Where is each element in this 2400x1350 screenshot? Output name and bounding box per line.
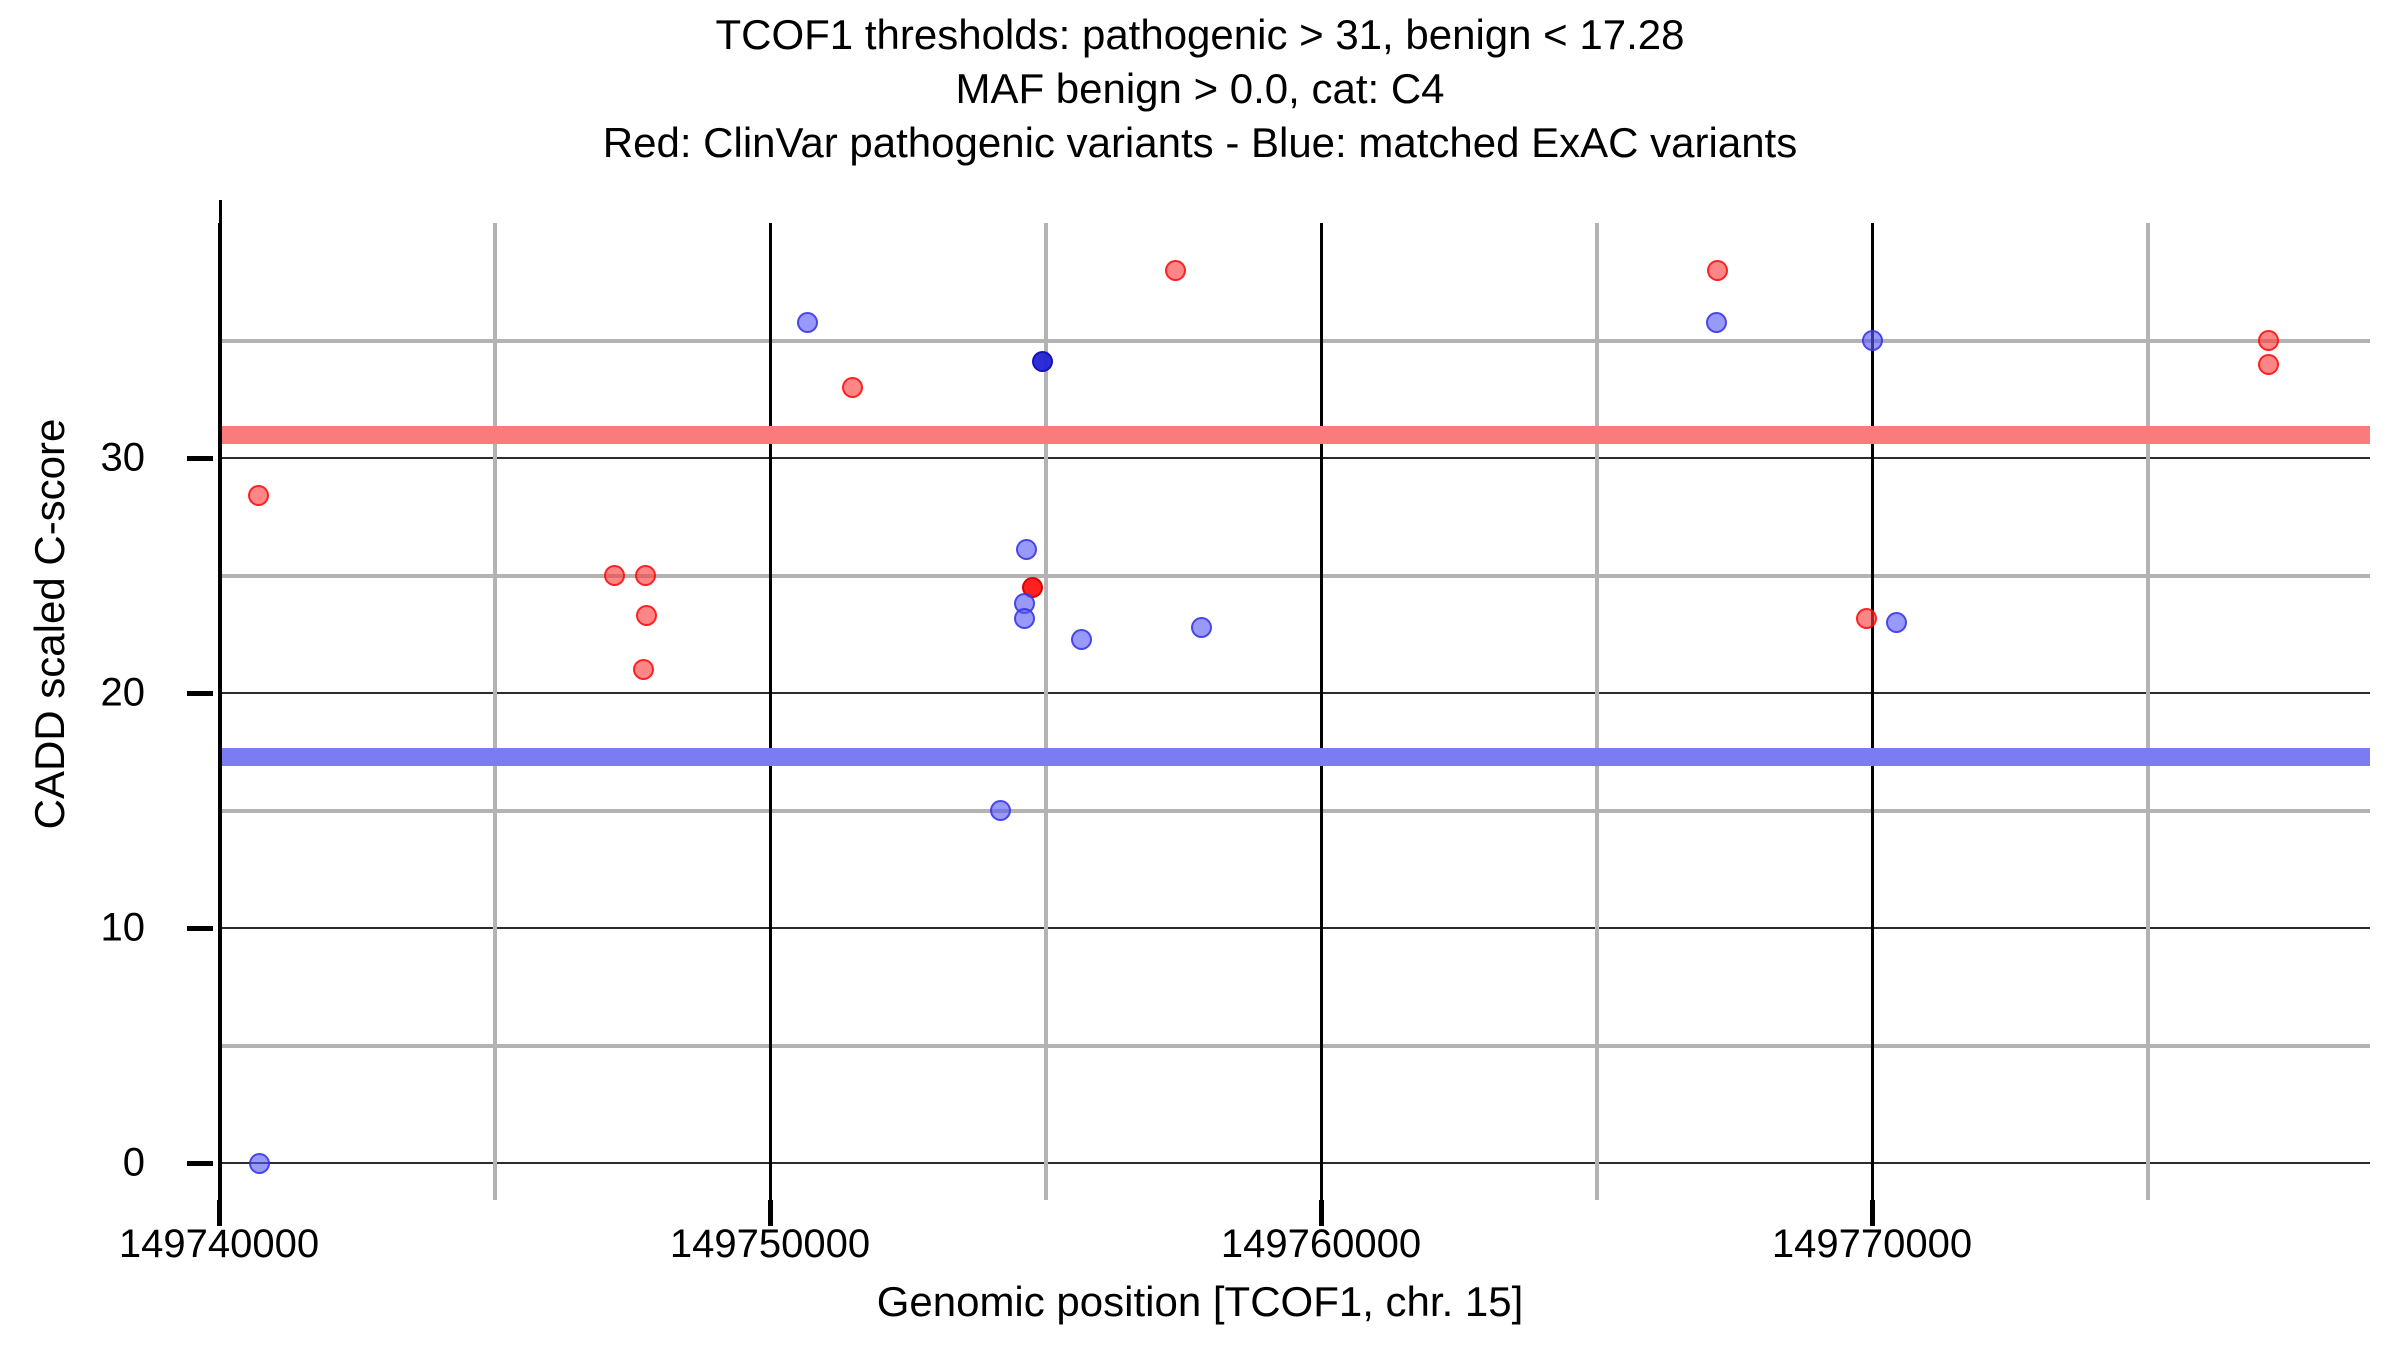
gridline-y-minor-15	[219, 809, 2370, 813]
gridline-x-major-149750000	[769, 223, 772, 1200]
y-tick-20	[187, 691, 213, 696]
y-tick-0	[187, 1161, 213, 1166]
x-tick-label-149770000: 149770000	[1772, 1222, 1972, 1267]
y-tick-label-20: 20	[0, 671, 145, 716]
title-line-1: TCOF1 thresholds: pathogenic > 31, benig…	[0, 8, 2400, 62]
data-point-exac-9	[1706, 312, 1727, 333]
data-point-exac-3	[1016, 539, 1037, 560]
threshold-band-pathogenic	[219, 426, 2370, 444]
gridline-x-minor-149745000	[493, 223, 497, 1200]
gridline-y-major-0	[219, 1162, 2370, 1164]
gridline-y-minor-25	[219, 574, 2370, 578]
gridline-x-minor-149765000	[1595, 223, 1599, 1200]
x-axis-title: Genomic position [TCOF1, chr. 15]	[0, 1278, 2400, 1326]
data-point-pathogenic-5	[842, 377, 863, 398]
data-point-exac-0	[249, 1153, 270, 1174]
x-tick-label-149740000: 149740000	[119, 1222, 319, 1267]
gridline-x-minor-149775000	[2146, 223, 2150, 1200]
title-line-2: MAF benign > 0.0, cat: C4	[0, 62, 2400, 116]
data-point-exac-7	[1032, 351, 1053, 372]
data-point-exac-11	[1886, 612, 1907, 633]
gridline-x-major-149770000	[1871, 223, 1874, 1200]
chart-root: TCOF1 thresholds: pathogenic > 31, benig…	[0, 0, 2400, 1350]
y-axis-line	[219, 200, 222, 1210]
y-tick-30	[187, 456, 213, 461]
data-point-pathogenic-9	[1856, 608, 1877, 629]
gridline-x-major-149760000	[1320, 223, 1323, 1200]
data-point-pathogenic-2	[635, 565, 656, 586]
y-tick-10	[187, 926, 213, 931]
data-point-pathogenic-8	[1707, 260, 1728, 281]
gridline-y-major-10	[219, 927, 2370, 929]
threshold-band-benign	[219, 748, 2370, 766]
gridline-y-major-30	[219, 457, 2370, 459]
data-point-pathogenic-3	[636, 605, 657, 626]
data-point-exac-1	[797, 312, 818, 333]
data-point-pathogenic-7	[1165, 260, 1186, 281]
gridline-y-minor-35	[219, 339, 2370, 343]
data-point-exac-5	[1014, 608, 1035, 629]
gridline-y-minor-5	[219, 1044, 2370, 1048]
data-point-exac-6	[1071, 629, 1092, 650]
data-point-pathogenic-4	[633, 659, 654, 680]
x-tick-label-149750000: 149750000	[670, 1222, 870, 1267]
y-tick-label-10: 10	[0, 906, 145, 951]
title-line-3: Red: ClinVar pathogenic variants - Blue:…	[0, 116, 2400, 170]
data-point-exac-2	[990, 800, 1011, 821]
gridline-y-major-20	[219, 692, 2370, 694]
y-axis-title: CADD scaled C-score	[26, 244, 74, 1004]
data-point-exac-10	[1862, 330, 1883, 351]
data-point-exac-8	[1191, 617, 1212, 638]
data-point-pathogenic-1	[604, 565, 625, 586]
plot-area	[219, 223, 2370, 1200]
data-point-pathogenic-11	[2258, 354, 2279, 375]
y-tick-label-0: 0	[0, 1141, 145, 1186]
data-point-pathogenic-0	[248, 485, 269, 506]
data-point-pathogenic-10	[2258, 330, 2279, 351]
x-tick-label-149760000: 149760000	[1221, 1222, 1421, 1267]
y-tick-label-30: 30	[0, 436, 145, 481]
chart-title: TCOF1 thresholds: pathogenic > 31, benig…	[0, 8, 2400, 170]
